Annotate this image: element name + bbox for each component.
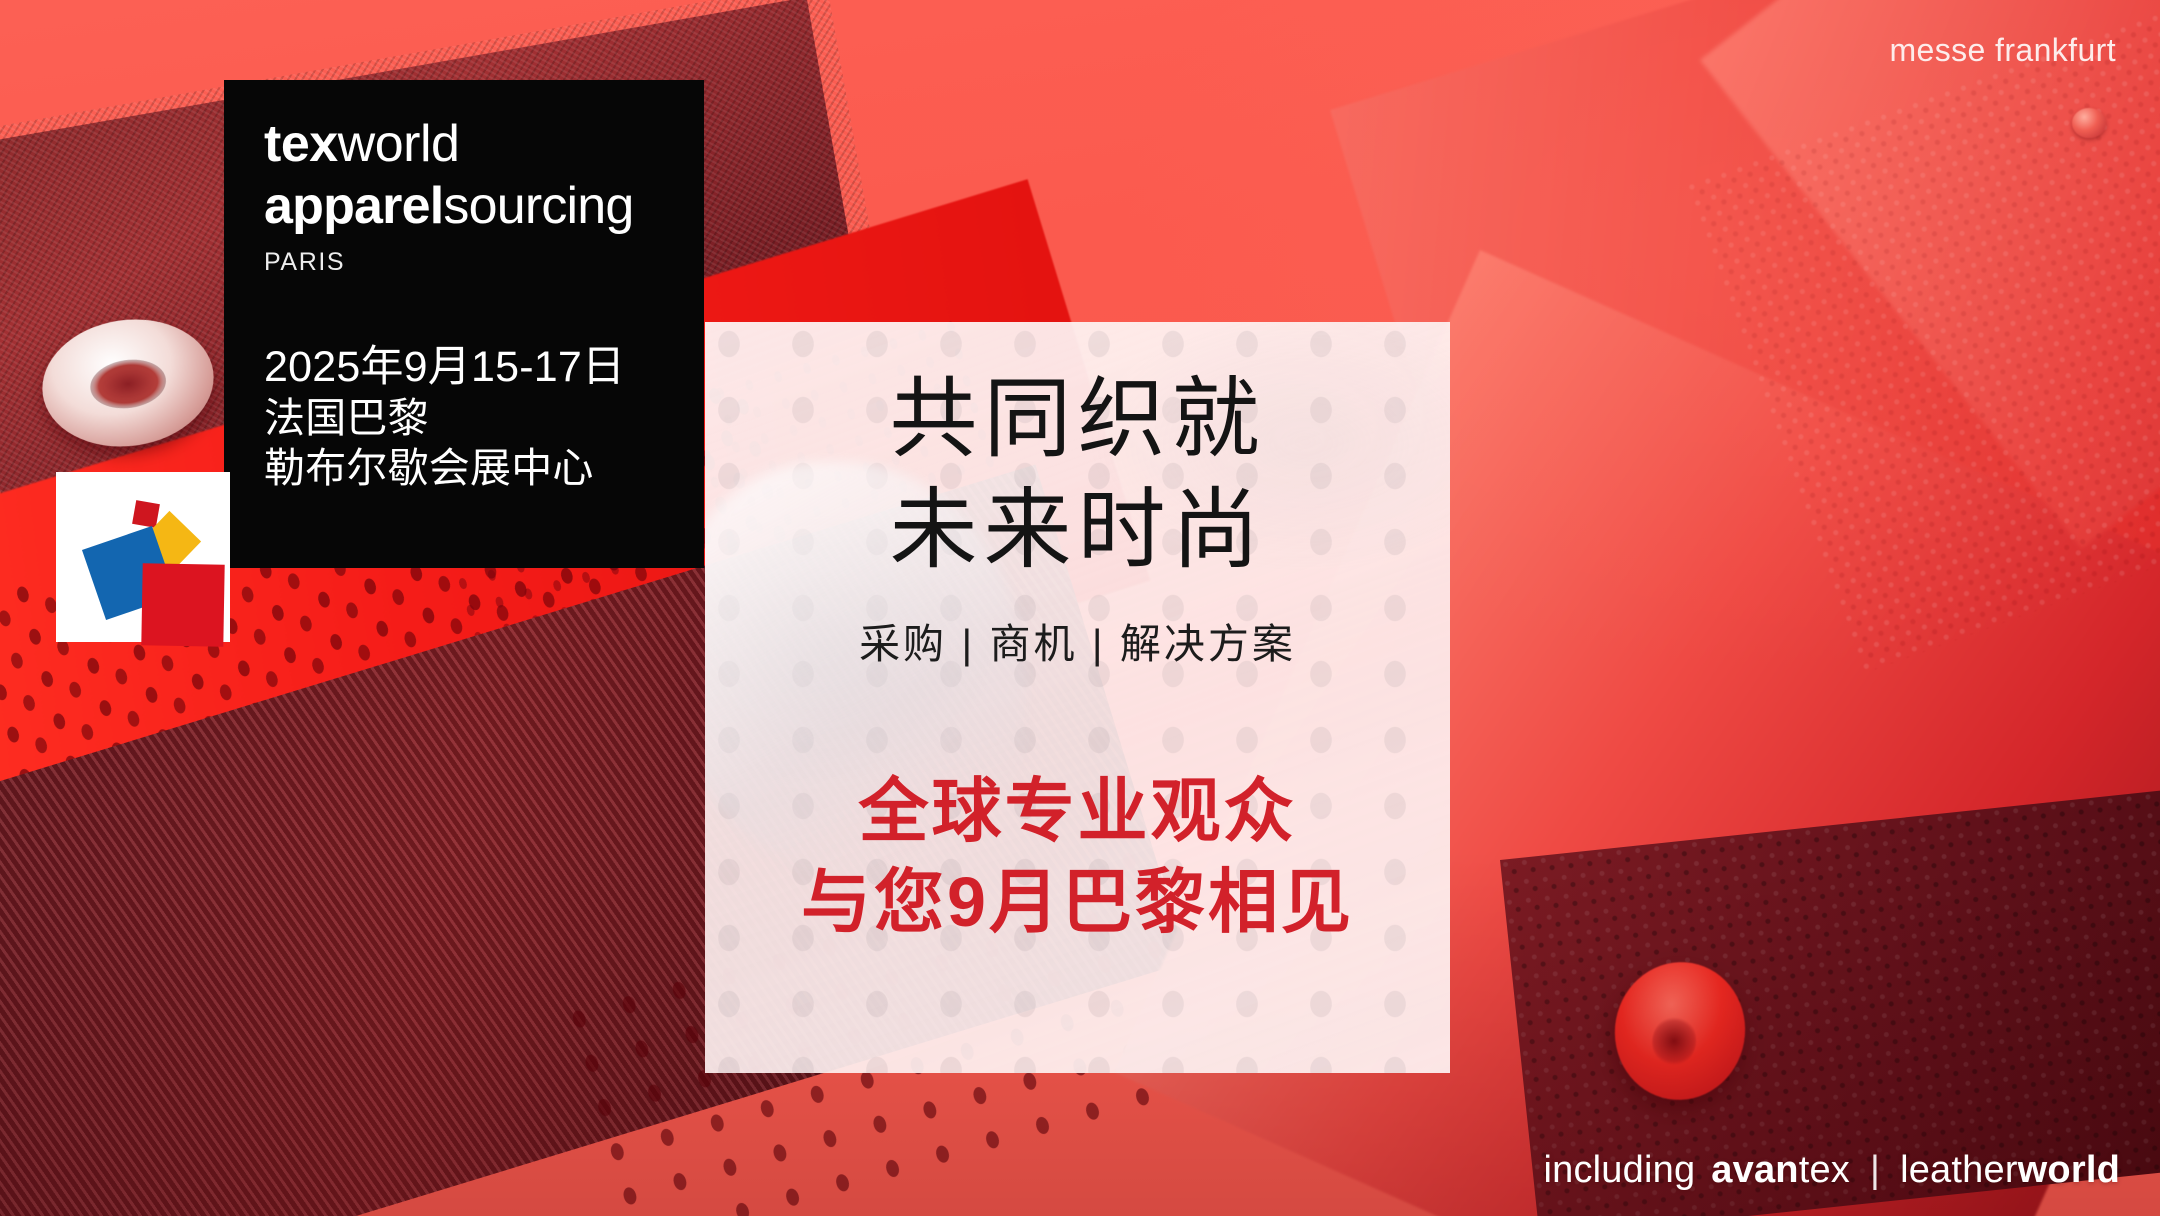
headline-line-1: 共同织就 xyxy=(705,364,1450,475)
brand-avantex: avantex xyxy=(1711,1149,1850,1192)
event-date: 2025年9月15-17日 xyxy=(264,341,664,393)
including-label: including xyxy=(1543,1149,1695,1192)
event-details-block: 2025年9月15-17日 法国巴黎 勒布尔歇会展中心 xyxy=(264,341,664,493)
headline: 共同织就 未来时尚 xyxy=(705,364,1450,586)
cta-line-2: 与您9月巴黎相见 xyxy=(705,857,1450,948)
headline-line-2: 未来时尚 xyxy=(705,475,1450,586)
messe-frankfurt-wordmark: messe frankfurt xyxy=(1889,32,2116,69)
leatherworld-world: world xyxy=(2018,1149,2120,1191)
logo-tex: tex xyxy=(264,115,338,173)
sub-brands-footer: including avantex | leatherworld xyxy=(1543,1149,2120,1192)
logo-apparel: apparel xyxy=(264,177,443,235)
logo-line-texworld: texworld xyxy=(264,118,664,170)
event-logo-panel: texworld apparelsourcing PARIS 2025年9月15… xyxy=(224,80,704,568)
event-logo-lockup: texworld apparelsourcing PARIS xyxy=(264,118,664,275)
subheadline: 采购 | 商机 | 解决方案 xyxy=(705,610,1450,670)
event-venue: 勒布尔歇会展中心 xyxy=(264,443,664,493)
avantex-tex: tex xyxy=(1799,1149,1850,1191)
leatherworld-leather: leather xyxy=(1900,1149,2018,1191)
event-city: 法国巴黎 xyxy=(264,393,664,443)
poster-canvas: messe frankfurt texworld apparelsourcing… xyxy=(0,0,2160,1216)
logo-sourcing: sourcing xyxy=(443,177,633,235)
water-droplet xyxy=(2072,108,2106,138)
brand-divider: | xyxy=(1866,1149,1884,1192)
brand-leatherworld: leatherworld xyxy=(1900,1149,2120,1192)
messe-frankfurt-squares-logo xyxy=(56,472,230,642)
cta-line-1: 全球专业观众 xyxy=(705,766,1450,857)
logo-line-apparelsourcing: apparelsourcing xyxy=(264,180,664,232)
message-panel: 共同织就 未来时尚 采购 | 商机 | 解决方案 全球专业观众 与您9月巴黎相见 xyxy=(705,322,1450,1073)
message-panel-content: 共同织就 未来时尚 采购 | 商机 | 解决方案 全球专业观众 与您9月巴黎相见 xyxy=(705,322,1450,948)
logo-square-red-large xyxy=(141,563,224,646)
logo-city-label: PARIS xyxy=(264,250,664,275)
avantex-avan: avan xyxy=(1711,1149,1798,1191)
logo-world: world xyxy=(338,115,460,173)
call-to-action: 全球专业观众 与您9月巴黎相见 xyxy=(705,766,1450,948)
